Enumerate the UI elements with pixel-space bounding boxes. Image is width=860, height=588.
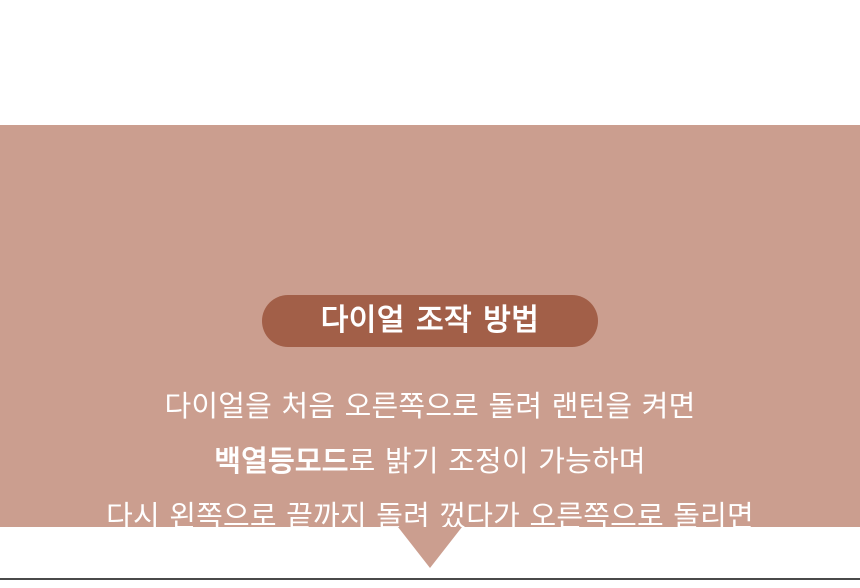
instruction-line-2-strong: 백열등모드 xyxy=(214,444,348,478)
section-badge: 다이얼 조작 방법 xyxy=(262,295,598,347)
instruction-panel: 다이얼 조작 방법 다이얼을 처음 오른쪽으로 돌려 랜턴을 켜면 백열등모드로… xyxy=(0,125,860,527)
instruction-line-1: 다이얼을 처음 오른쪽으로 돌려 랜턴을 켜면 xyxy=(0,379,860,434)
instruction-line-4-rest: 로 바뀝니다. xyxy=(439,554,592,588)
callout-pointer-triangle xyxy=(398,527,462,568)
top-white-spacer xyxy=(0,0,860,125)
bottom-divider xyxy=(0,578,860,580)
instruction-line-1-rest: 다이얼을 처음 오른쪽으로 돌려 랜턴을 켜면 xyxy=(165,389,696,423)
section-badge-label: 다이얼 조작 방법 xyxy=(321,306,540,336)
callout-screen: 다이얼 조작 방법 다이얼을 처음 오른쪽으로 돌려 랜턴을 켜면 백열등모드로… xyxy=(0,0,860,588)
instruction-line-2: 백열등모드로 밝기 조정이 가능하며 xyxy=(0,434,860,489)
instruction-line-2-rest: 로 밝기 조정이 가능하며 xyxy=(349,444,646,478)
